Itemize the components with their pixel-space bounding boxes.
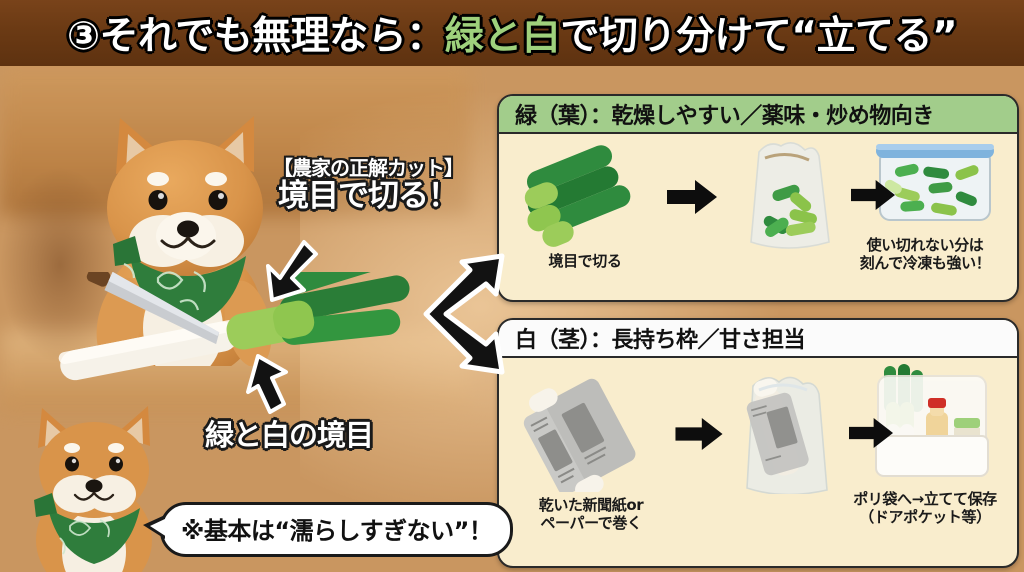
panel-green-header-text: 緑（葉）：乾燥しやすい／薬味・炒め物向き — [515, 98, 934, 130]
title-text-before: それでも無理なら： — [99, 14, 444, 59]
panel-white-header: 白（茎）：長持ち枠／甘さ担当 — [499, 320, 1017, 358]
slide-canvas: ③それでも無理なら：緑と白で切り分けて“立てる” — [0, 0, 1024, 572]
boundary-label: 緑と白の境目 — [205, 412, 373, 454]
green-step-1: 境目で切る — [505, 140, 665, 270]
pointer-arrow-to-cut-top — [258, 238, 320, 312]
tip-speech-bubble: ※基本は“濡らしすぎない”！ — [160, 502, 513, 557]
plastic-bag-with-green-leek-image — [719, 136, 849, 254]
panel-green-leaves: 緑（葉）：乾燥しやすい／薬味・炒め物向き 境目で切る — [497, 94, 1019, 302]
leek-white-wrapped-in-newspaper-image — [503, 364, 679, 492]
leek-green-leaves-image — [505, 140, 665, 248]
panel-green-body: 境目で切る — [499, 134, 1017, 300]
right-arrow-icon-white-2 — [849, 418, 893, 448]
cut-note-small: 【農家の正解カット】 — [248, 158, 488, 178]
panel-white-header-text: 白（茎）：長持ち枠／甘さ担当 — [515, 322, 805, 354]
right-arrow-icon-green-2 — [851, 180, 895, 210]
panel-green-header: 緑（葉）：乾燥しやすい／薬味・炒め物向き — [499, 96, 1017, 134]
branching-arrow-icon — [416, 250, 512, 378]
title-text-after: で切り分けて“立てる” — [560, 14, 957, 59]
white-step-2 — [723, 364, 853, 498]
green-step-1-caption: 境目で切る — [505, 252, 665, 270]
panel-white-body: 乾いた新聞紙or ペーパーで巻く — [499, 358, 1017, 566]
white-step-1-caption: 乾いた新聞紙or ペーパーで巻く — [503, 496, 679, 533]
title-highlight: 緑と白 — [445, 14, 561, 59]
cut-note-big: 境目で切る！ — [248, 181, 488, 213]
title-number: ③ — [67, 14, 100, 59]
right-arrow-icon-white-1 — [675, 418, 723, 450]
page-title: ③それでも無理なら：緑と白で切り分けて“立てる” — [67, 5, 957, 61]
white-step-3-caption: ポリ袋へ→立てて保存 （ドアポケット等） — [835, 490, 1015, 527]
green-step-2 — [719, 136, 849, 258]
pointer-arrow-to-boundary — [240, 352, 296, 418]
felt-shiba-small — [12, 400, 177, 572]
green-step-3-caption: 使い切れない分は 刻んで冷凍も強い！ — [835, 236, 1015, 273]
wrapped-leek-in-poly-bag-image — [723, 364, 853, 494]
panel-white-stems: 白（茎）：長持ち枠／甘さ担当 — [497, 318, 1019, 568]
tip-text: ※基本は“濡らしすぎない”！ — [181, 517, 492, 545]
white-step-1: 乾いた新聞紙or ペーパーで巻く — [503, 364, 679, 533]
farmer-cut-note: 【農家の正解カット】 境目で切る！ — [248, 158, 488, 213]
right-arrow-icon-green-1 — [667, 180, 717, 214]
title-bar: ③それでも無理なら：緑と白で切り分けて“立てる” — [0, 0, 1024, 66]
